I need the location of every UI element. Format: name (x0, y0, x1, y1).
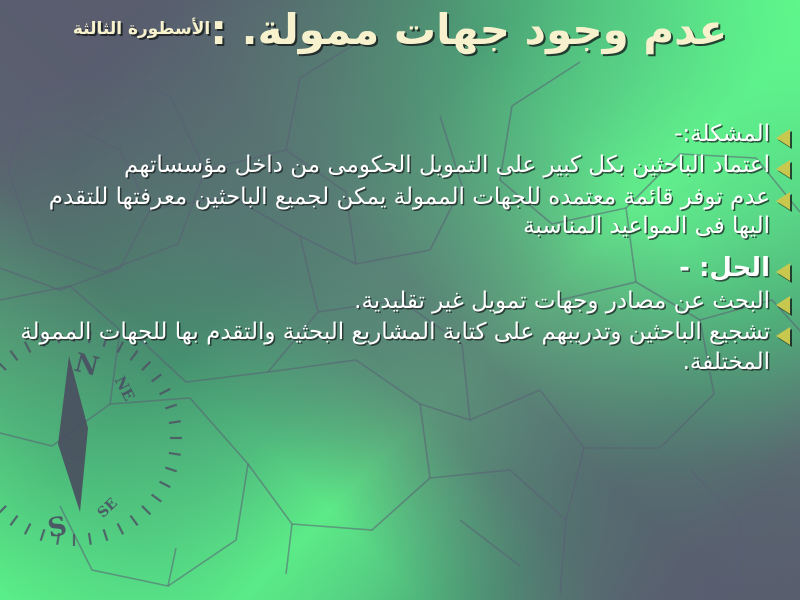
triangle-bullet-icon (776, 160, 790, 178)
triangle-bullet-icon (776, 327, 790, 345)
list-item[interactable]: المشكلة:- (8, 120, 790, 149)
bullet-text: تشجيع الباحثين وتدريبهم على كتابة المشار… (8, 318, 770, 377)
triangle-bullet-icon (776, 129, 790, 147)
bullet-text: البحث عن مصادر وجهات تمويل غير تقليدية. (8, 287, 770, 316)
section-spacer (8, 244, 790, 252)
list-item[interactable]: الحل: - (8, 252, 790, 285)
presentation-slide: N S NW NE SE عدم وجود جهات ممولة. :الأسط… (0, 0, 800, 600)
bullet-text: المشكلة:- (8, 120, 770, 149)
slide-title: عدم وجود جهات ممولة. :الأسطورة الثالثة (18, 8, 782, 52)
list-item[interactable]: عدم توفر قائمة معتمده للجهات الممولة يمك… (8, 183, 790, 242)
slide-title-separator: : (210, 5, 241, 54)
bullet-text: الحل: - (8, 252, 770, 285)
slide-body: المشكلة:- اعتماد الباحثين بكل كبير على ا… (8, 120, 790, 379)
slide-title-main: عدم وجود جهات ممولة. (242, 5, 728, 54)
triangle-bullet-icon (776, 263, 790, 281)
bullet-text: اعتماد الباحثين بكل كبير على التمويل الح… (8, 151, 770, 180)
triangle-bullet-icon (776, 296, 790, 314)
triangle-bullet-icon (776, 192, 790, 210)
list-item[interactable]: اعتماد الباحثين بكل كبير على التمويل الح… (8, 151, 790, 180)
bullet-text: عدم توفر قائمة معتمده للجهات الممولة يمك… (8, 183, 770, 242)
list-item[interactable]: البحث عن مصادر وجهات تمويل غير تقليدية. (8, 287, 790, 316)
slide-title-prefix: الأسطورة الثالثة (73, 19, 210, 39)
list-item[interactable]: تشجيع الباحثين وتدريبهم على كتابة المشار… (8, 318, 790, 377)
